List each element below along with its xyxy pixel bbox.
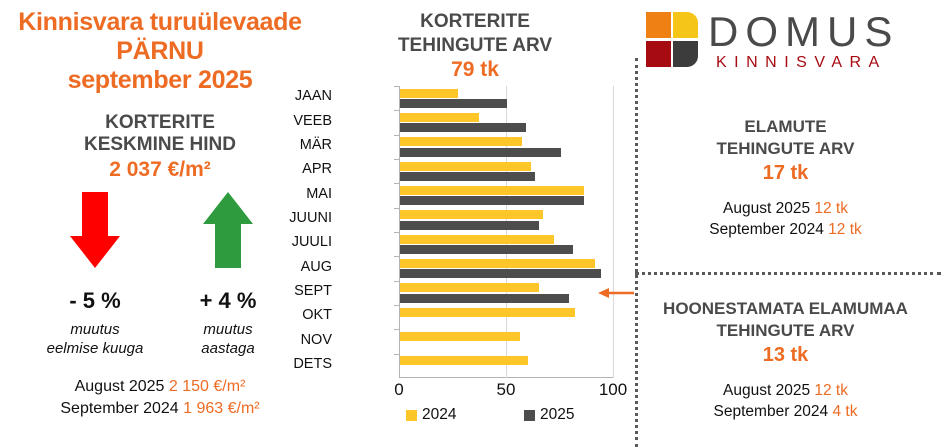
chart-bar-2025: [400, 172, 535, 181]
chart-bar-2024: [400, 356, 528, 365]
history-row: August 2025 12 tk: [630, 198, 941, 219]
apartment-transactions-chart-panel: KORTERITE TEHINGUTE ARV 79 tk 050100 JAA…: [320, 0, 630, 447]
page-title-line-2: PÄRNU: [0, 37, 320, 66]
chart-x-tick-label: 0: [369, 380, 429, 400]
right-panel: DOMUS KINNISVARA ELAMUTE TEHINGUTE ARV 1…: [630, 0, 941, 447]
chart-y-tick: [394, 329, 399, 330]
chart-category-label: VEEB: [266, 113, 332, 129]
chart-headline-count: 79 tk: [320, 58, 630, 82]
chart-bar-2024: [400, 283, 539, 292]
monthly-change-indicator: [35, 192, 155, 282]
chart-bar-2025: [400, 148, 561, 157]
horizontal-divider: [635, 272, 941, 275]
chart-bar-2025: [400, 221, 539, 230]
chart-category-label: JUUNI: [266, 210, 332, 226]
chart-bar-2024: [400, 210, 543, 219]
down-arrow-stem: [82, 192, 108, 236]
chart-category-label: MAI: [266, 186, 332, 202]
history-row-value: 1 963 €/m²: [183, 400, 259, 417]
page-title: Kinnisvara turuülevaade PÄRNU september …: [0, 8, 320, 95]
land-section-count: 13 tk: [630, 344, 941, 367]
down-arrow-icon: [70, 192, 120, 268]
down-arrow-head: [70, 236, 120, 268]
chart-title-line-1: KORTERITE: [320, 10, 630, 34]
infographic-root: Kinnisvara turuülevaade PÄRNU september …: [0, 0, 941, 447]
chart-category-label: NOV: [266, 332, 332, 348]
chart-y-tick: [394, 281, 399, 282]
land-section-title: HOONESTAMATA ELAMUMAA TEHINGUTE ARV: [630, 298, 941, 342]
chart-y-tick: [394, 256, 399, 257]
chart-bar-2025: [400, 123, 526, 132]
monthly-change-caption-line-1: muutus: [20, 320, 170, 339]
domus-squares-logo-icon: [646, 12, 702, 68]
chart-y-tick: [394, 159, 399, 160]
apartment-price-history: August 2025 2 150 €/m² September 2024 1 …: [0, 376, 320, 420]
history-row-label: September 2024: [709, 221, 824, 238]
chart-bar-2025: [400, 99, 507, 108]
land-section-title-line-1: HOONESTAMATA ELAMUMAA: [630, 298, 941, 320]
chart-plot-area: 050100: [399, 86, 613, 378]
legend-label-2025: 2025: [540, 406, 574, 424]
history-row: September 2024 12 tk: [630, 219, 941, 240]
monthly-change-percent: - 5 %: [30, 288, 160, 314]
chart-bar-2025: [400, 269, 601, 278]
monthly-change-caption: muutus eelmise kuuga: [20, 320, 170, 358]
up-arrow-stem: [215, 224, 241, 268]
chart-bar-2025: [400, 245, 573, 254]
up-arrow-icon: [203, 192, 253, 268]
chart-bar-2024: [400, 137, 522, 146]
chart-y-tick: [394, 86, 399, 87]
houses-section-title-line-1: ELAMUTE: [630, 116, 941, 138]
history-row-value: 12 tk: [814, 200, 848, 217]
chart-category-label: DETS: [266, 356, 332, 372]
chart-y-tick: [394, 232, 399, 233]
houses-section-title: ELAMUTE TEHINGUTE ARV: [630, 116, 941, 160]
houses-section-history: August 2025 12 tk September 2024 12 tk: [630, 198, 941, 240]
chart-bar-2025: [400, 294, 569, 303]
chart-y-tick: [394, 354, 399, 355]
logo-quadrant-bottom-left: [646, 41, 671, 67]
history-row-value: 12 tk: [828, 221, 862, 238]
chart-legend: 2024 2025: [328, 406, 622, 430]
chart-title-line-2: TEHINGUTE ARV: [320, 34, 630, 58]
chart-bar-2024: [400, 235, 554, 244]
history-row-value: 12 tk: [814, 382, 848, 399]
chart-y-tick: [394, 305, 399, 306]
legend-label-2024: 2024: [422, 406, 456, 424]
chart-category-label: JAAN: [266, 88, 332, 104]
houses-section-title-line-2: TEHINGUTE ARV: [630, 138, 941, 160]
legend-swatch-2025: [524, 410, 535, 421]
chart-gridline: [613, 86, 614, 378]
legend-swatch-2024: [406, 410, 417, 421]
chart-bar-2024: [400, 259, 595, 268]
history-row: August 2025 2 150 €/m²: [0, 376, 320, 398]
chart-y-tick: [394, 183, 399, 184]
chart-category-label: OKT: [266, 307, 332, 323]
history-row: August 2025 12 tk: [630, 380, 941, 401]
logo-quadrant-bottom-right: [673, 41, 698, 67]
monthly-change-caption-line-2: eelmise kuuga: [20, 339, 170, 358]
history-row: September 2024 4 tk: [630, 401, 941, 422]
houses-section-count: 17 tk: [630, 162, 941, 185]
left-arrow-annotation-icon: [598, 286, 634, 300]
history-row-label: August 2025: [723, 382, 810, 399]
history-row-value: 4 tk: [832, 403, 857, 420]
chart-category-label: AUG: [266, 259, 332, 275]
chart-y-tick: [394, 208, 399, 209]
land-section-title-line-2: TEHINGUTE ARV: [630, 320, 941, 342]
chart-y-tick: [394, 110, 399, 111]
chart-category-label: JUULI: [266, 234, 332, 250]
domus-logo: DOMUS KINNISVARA: [646, 8, 936, 74]
chart-x-tick-label: 50: [476, 380, 536, 400]
legend-item-2025: 2025: [524, 406, 574, 424]
history-row-label: September 2024: [714, 403, 829, 420]
chart-bar-2024: [400, 186, 584, 195]
legend-item-2024: 2024: [406, 406, 456, 424]
chart-title: KORTERITE TEHINGUTE ARV: [320, 10, 630, 58]
chart-category-label: SEPT: [266, 283, 332, 299]
up-arrow-head: [203, 192, 253, 224]
logo-subtext: KINNISVARA: [716, 53, 887, 72]
logo-quadrant-top-right: [673, 12, 698, 38]
chart-bar-2024: [400, 89, 458, 98]
chart-y-tick: [394, 135, 399, 136]
chart-bar-2024: [400, 113, 479, 122]
history-row-label: September 2024: [60, 400, 178, 417]
history-row-label: August 2025: [723, 200, 810, 217]
history-row-label: August 2025: [75, 378, 165, 395]
logo-wordmark: DOMUS: [708, 8, 899, 56]
chart-bar-2025: [400, 196, 584, 205]
history-row: September 2024 1 963 €/m²: [0, 398, 320, 420]
bar-chart: 050100 JAANVEEBMÄRAPRMAIJUUNIJUULIAUGSEP…: [328, 86, 622, 378]
logo-quadrant-top-left: [646, 12, 671, 38]
history-row-value: 2 150 €/m²: [169, 378, 245, 395]
land-section-history: August 2025 12 tk September 2024 4 tk: [630, 380, 941, 422]
chart-bar-2024: [400, 332, 520, 341]
page-title-line-1: Kinnisvara turuülevaade: [0, 8, 320, 37]
chart-category-label: APR: [266, 161, 332, 177]
chart-bar-2024: [400, 162, 531, 171]
chart-bar-2024: [400, 308, 575, 317]
chart-category-label: MÄR: [266, 137, 332, 153]
